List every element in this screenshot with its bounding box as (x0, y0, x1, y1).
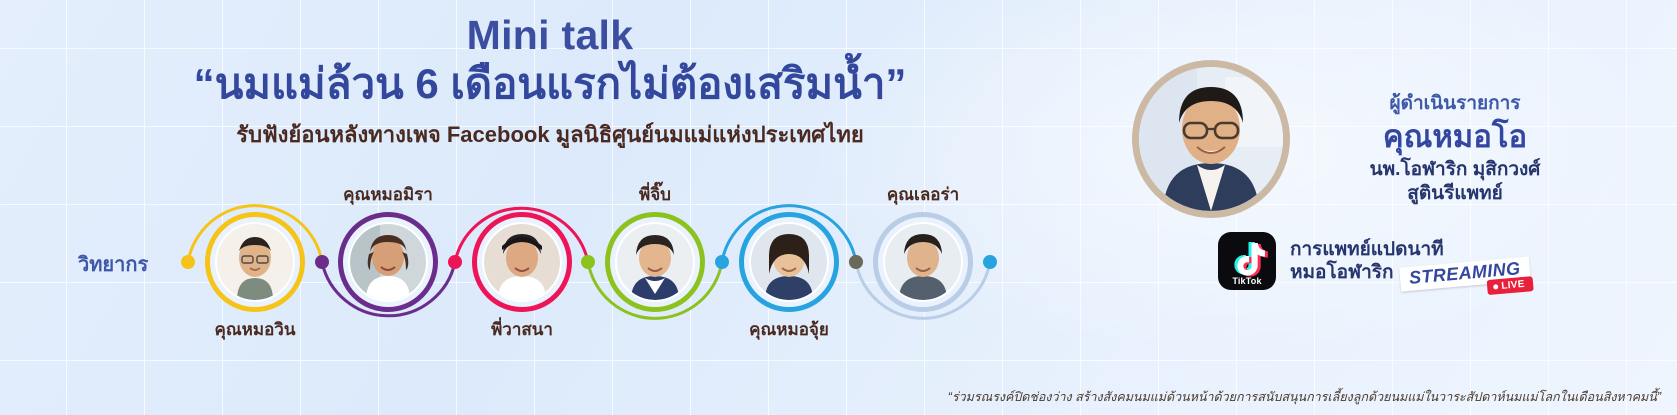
host-avatar (1132, 60, 1290, 218)
speaker-ring-6 (873, 212, 973, 312)
speaker-photo-2 (350, 224, 426, 300)
speaker-ring-1 (205, 212, 305, 312)
speaker-ring-3 (472, 212, 572, 312)
live-label: LIVE (1501, 279, 1525, 292)
speaker-card-6[interactable]: คุณเลอร่า (873, 212, 973, 312)
speaker-card-2[interactable]: คุณหมอมิรา (338, 212, 438, 312)
speaker-label-3: พี่วาสนา (491, 316, 553, 343)
speaker-photo-5 (751, 224, 827, 300)
headline-block: Mini talk “นมแม่ล้วน 6 เดือนแรกไม่ต้องเส… (0, 14, 1100, 149)
host-full-name: นพ.โอฬาริก มุสิกวงศ์ (1290, 158, 1620, 182)
footer-note: “ร่วมรณรงค์ปิดช่องว่าง สร้างสังคมนมแม่ด้… (948, 387, 1661, 407)
tiktok-icon[interactable]: TikTok (1218, 232, 1276, 290)
host-info: ผู้ดำเนินรายการ คุณหมอโอ นพ.โอฬาริก มุสิ… (1290, 88, 1620, 206)
speaker-label-4: พี่จิ๊บ (639, 181, 671, 208)
speaker-photo-4 (617, 224, 693, 300)
speaker-card-4[interactable]: พี่จิ๊บ (605, 212, 705, 312)
tiktok-wordmark: TikTok (1218, 276, 1276, 286)
title-quote: “นมแม่ล้วน 6 เดือนแรกไม่ต้องเสริมน้ำ” (0, 60, 1100, 108)
speaker-card-1[interactable]: คุณหมอวิน (205, 212, 305, 312)
tiktok-channel-line1: การแพทย์แปดนาที (1290, 238, 1444, 261)
speaker-label-1: คุณหมอวิน (215, 316, 296, 343)
speaker-label-6: คุณเลอร่า (887, 181, 959, 208)
speakers-strip: คุณหมอวิน คุณหมอมิรา (0, 180, 1060, 350)
host-specialty: สูตินรีแพทย์ (1290, 182, 1620, 206)
speaker-label-2: คุณหมอมิรา (343, 181, 433, 208)
speaker-photo-3 (484, 224, 560, 300)
speaker-card-3[interactable]: พี่วาสนา (472, 212, 572, 312)
speaker-label-5: คุณหมอจุ้ย (749, 316, 829, 343)
speaker-ring-2 (338, 212, 438, 312)
speaker-photo-6 (885, 224, 961, 300)
title-main: Mini talk (0, 14, 1100, 58)
speaker-ring-4 (605, 212, 705, 312)
speaker-photo-1 (217, 224, 293, 300)
speaker-ring-5 (739, 212, 839, 312)
speaker-card-5[interactable]: คุณหมอจุ้ย (739, 212, 839, 312)
live-dot-icon (1493, 284, 1498, 289)
title-subtitle: รับฟังย้อนหลังทางเพจ Facebook มูลนิธิศูน… (0, 122, 1100, 148)
host-nickname: คุณหมอโอ (1290, 120, 1620, 154)
host-role: ผู้ดำเนินรายการ (1290, 88, 1620, 118)
host-photo-inner (1139, 67, 1283, 211)
